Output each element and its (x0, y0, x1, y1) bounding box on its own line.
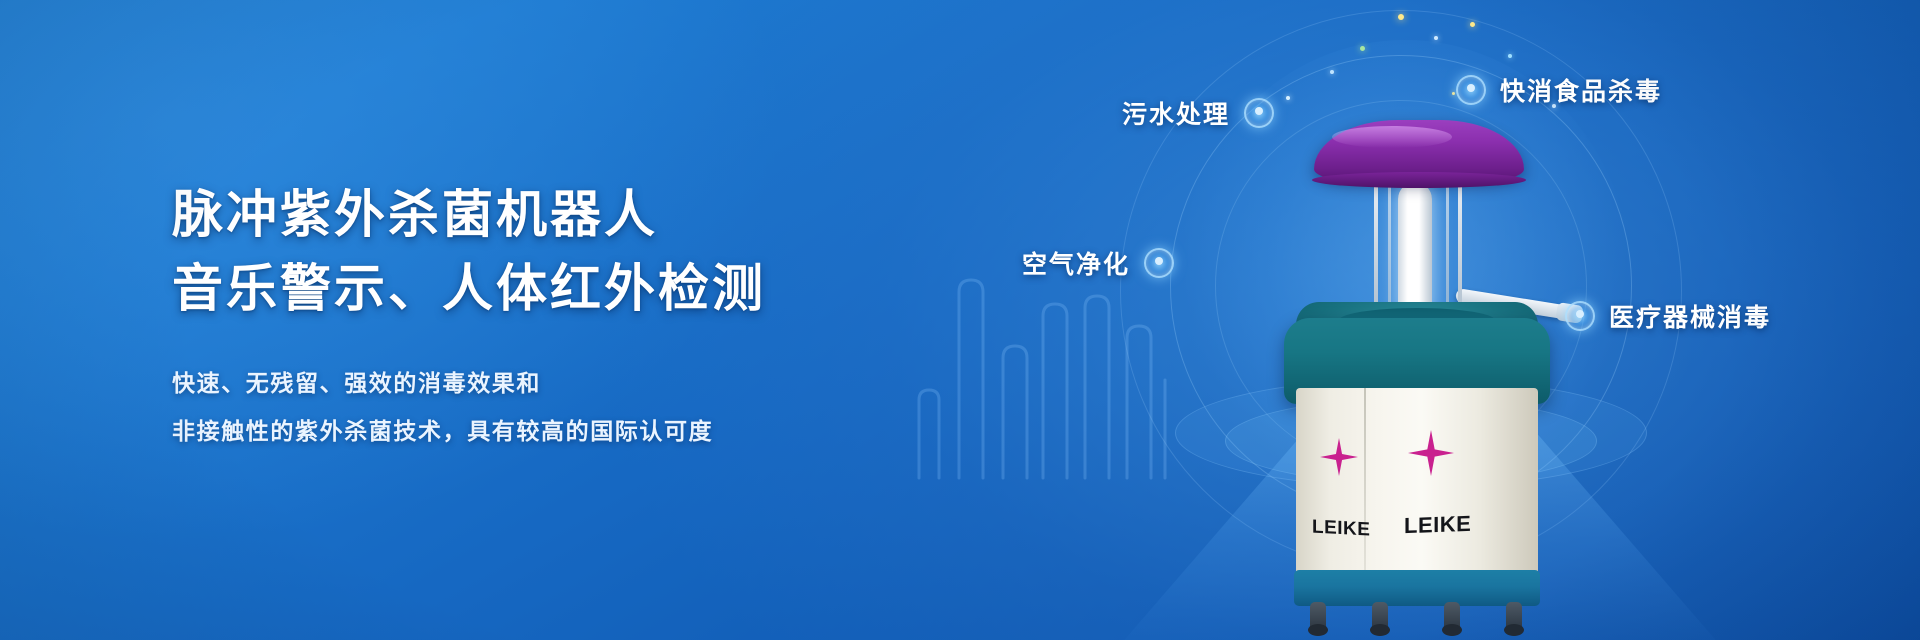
node-dot-icon (1456, 75, 1486, 105)
callout-medical[interactable]: 医疗器械消毒 (1565, 298, 1771, 334)
caster-wheel (1310, 602, 1326, 632)
sparkle-particle (1286, 96, 1290, 100)
lamp-support-rod (1388, 182, 1391, 322)
brand-label: LEIKE (1312, 516, 1370, 541)
callout-label: 医疗器械消毒 (1609, 298, 1771, 334)
caster-wheel (1444, 602, 1460, 632)
sparkle-particle (1434, 36, 1438, 40)
subtitle-line-2: 非接触性的紫外杀菌技术，具有较高的国际认可度 (172, 408, 892, 456)
callout-food[interactable]: 快消食品杀毒 (1456, 72, 1662, 108)
headline-line-2: 音乐警示、人体红外检测 (172, 252, 892, 326)
node-dot-icon (1565, 301, 1595, 331)
headline-line-1: 脉冲紫外杀菌机器人 (172, 178, 892, 252)
uv-lamp-tube (1398, 182, 1432, 318)
brand-label: LEIKE (1404, 511, 1471, 539)
node-dot-icon (1144, 248, 1174, 278)
lamp-support-rod (1446, 182, 1449, 322)
caster-wheel (1372, 602, 1388, 632)
sparkle-particle (1360, 46, 1365, 51)
callout-label: 空气净化 (1022, 245, 1130, 281)
star-burst-icon (1320, 438, 1358, 476)
node-dot-icon (1244, 98, 1274, 128)
lamp-support-rod (1374, 182, 1378, 322)
caster-wheel (1506, 602, 1522, 632)
hero-banner: LEIKE LEIKE 污水处理 快消食品杀毒 空气净化 医疗器械消毒 脉冲紫外… (0, 0, 1920, 640)
subtitle-block: 快速、无残留、强效的消毒效果和 非接触性的紫外杀菌技术，具有较高的国际认可度 (172, 360, 892, 456)
robot-body-edge (1364, 388, 1366, 584)
lamp-support-rod (1458, 182, 1462, 322)
callout-label: 快消食品杀毒 (1500, 72, 1662, 108)
uv-disinfection-robot: LEIKE LEIKE (1268, 120, 1568, 580)
subtitle-line-1: 快速、无残留、强效的消毒效果和 (172, 360, 892, 408)
callout-label: 污水处理 (1122, 95, 1230, 131)
callout-air[interactable]: 空气净化 (1022, 245, 1174, 281)
callout-sewage[interactable]: 污水处理 (1122, 95, 1274, 131)
sparkle-particle (1470, 22, 1475, 27)
robot-base-skirt (1294, 570, 1540, 606)
hero-copy: 脉冲紫外杀菌机器人 音乐警示、人体红外检测 快速、无残留、强效的消毒效果和 非接… (172, 178, 892, 456)
sparkle-particle (1398, 14, 1404, 20)
robot-body-panel (1296, 388, 1538, 584)
sparkle-particle (1330, 70, 1334, 74)
sparkle-particle (1452, 92, 1455, 95)
pulse-wave-decoration (915, 250, 1175, 480)
sparkle-particle (1508, 54, 1512, 58)
star-burst-icon (1408, 430, 1454, 476)
dome-lip (1312, 172, 1526, 188)
